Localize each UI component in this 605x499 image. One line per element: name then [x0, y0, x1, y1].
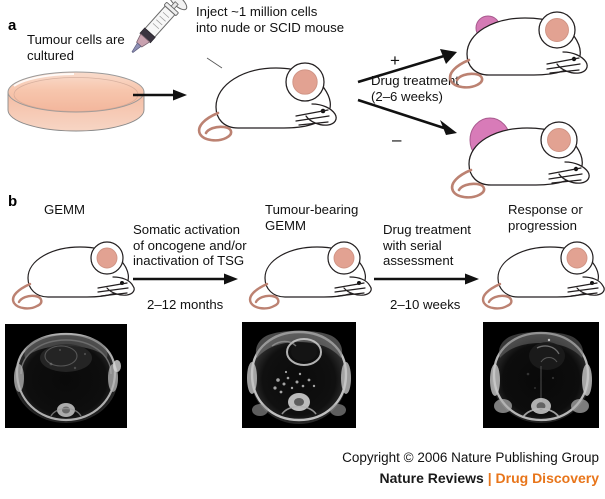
journal-brand: Nature Reviews | Drug Discovery	[380, 470, 599, 486]
caption-response-progression: Response or progression	[508, 202, 605, 233]
mri-axial-response	[483, 322, 599, 428]
figure-root: a Tumour cells are cultured	[0, 0, 605, 499]
panel-b-letter: b	[8, 194, 17, 209]
arrow-dish-to-mouse	[133, 88, 188, 107]
mouse-injected	[192, 44, 352, 164]
plus-sign: +	[390, 52, 400, 69]
mouse-tumour-bearing-gemm	[243, 234, 383, 321]
caption-gemm: GEMM	[44, 202, 154, 218]
arrow-gemm-to-tumour	[133, 272, 239, 291]
mouse-small-tumour	[441, 2, 603, 95]
mri-axial-baseline	[5, 324, 127, 428]
petri-dish	[4, 72, 149, 139]
mouse-response	[476, 234, 605, 321]
mouse-large-tumour	[441, 110, 603, 205]
caption-tumour-bearing-gemm: Tumour-bearing GEMM	[265, 202, 395, 233]
minus-sign: –	[392, 131, 401, 148]
arrow-tumour-to-response	[374, 272, 480, 291]
mouse-gemm	[6, 234, 146, 321]
mri-axial-tumour	[242, 322, 356, 428]
journal-separator: |	[488, 470, 492, 486]
caption-inject-cells: Inject ~1 million cells into nude or SCI…	[196, 4, 396, 35]
journal-name: Nature Reviews	[380, 470, 484, 486]
copyright-notice: Copyright © 2006 Nature Publishing Group	[342, 450, 599, 465]
journal-subtitle: Drug Discovery	[496, 470, 599, 486]
panel-a-letter: a	[8, 18, 16, 33]
